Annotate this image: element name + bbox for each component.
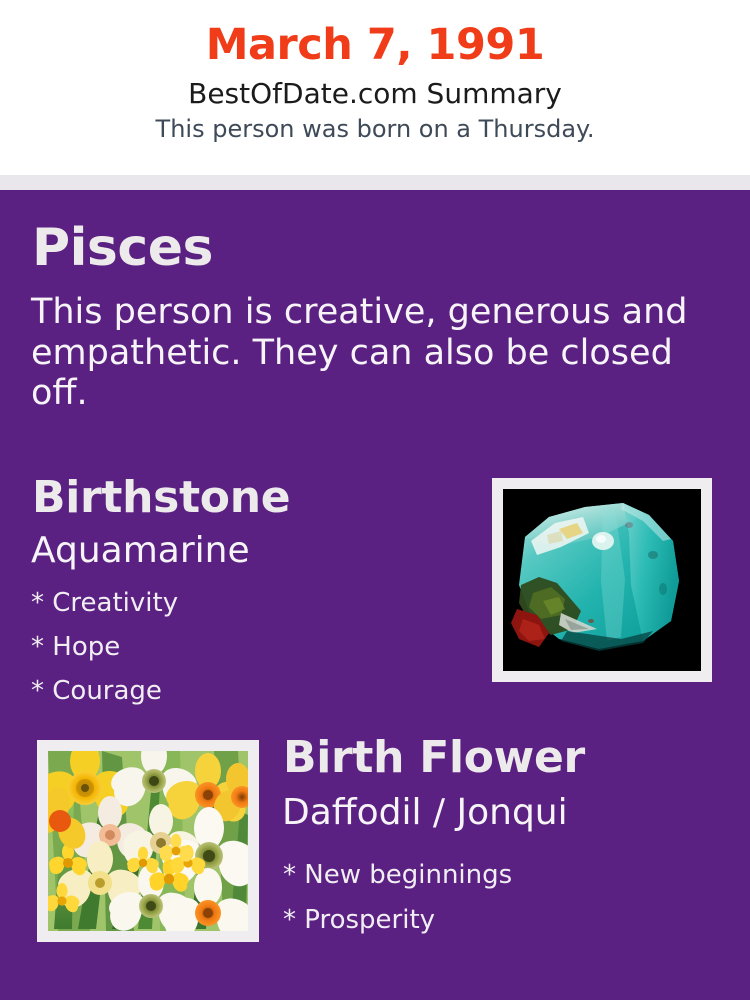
list-item: * New beginnings	[283, 853, 512, 898]
birthstone-name: Aquamarine	[31, 533, 250, 569]
summary-card: March 7, 1991 BestOfDate.com Summary Thi…	[0, 0, 750, 1000]
list-item: * Creativity	[31, 581, 178, 625]
list-item: * Courage	[31, 669, 178, 713]
birthstone-heading: Birthstone	[32, 476, 290, 520]
zodiac-sign-title: Pisces	[32, 222, 213, 274]
header-divider	[0, 175, 750, 190]
aquamarine-crystal-icon	[503, 489, 701, 671]
zodiac-description: This person is creative, generous and em…	[31, 292, 703, 414]
site-subtitle: BestOfDate.com Summary	[0, 68, 750, 108]
list-item: * Prosperity	[283, 898, 512, 943]
page-title: March 7, 1991	[0, 0, 750, 68]
list-item: * Hope	[31, 625, 178, 669]
born-day-text: This person was born on a Thursday.	[0, 109, 750, 142]
birth-flower-heading: Birth Flower	[283, 736, 585, 780]
daffodil-flowers-icon	[48, 751, 248, 931]
header: March 7, 1991 BestOfDate.com Summary Thi…	[0, 0, 750, 175]
birth-flower-name: Daffodil / Jonqui	[282, 795, 568, 831]
birthstone-image	[503, 489, 701, 671]
birth-flower-traits-list: * New beginnings * Prosperity	[283, 853, 512, 943]
birth-flower-image	[48, 751, 248, 931]
birthstone-traits-list: * Creativity * Hope * Courage	[31, 581, 178, 713]
